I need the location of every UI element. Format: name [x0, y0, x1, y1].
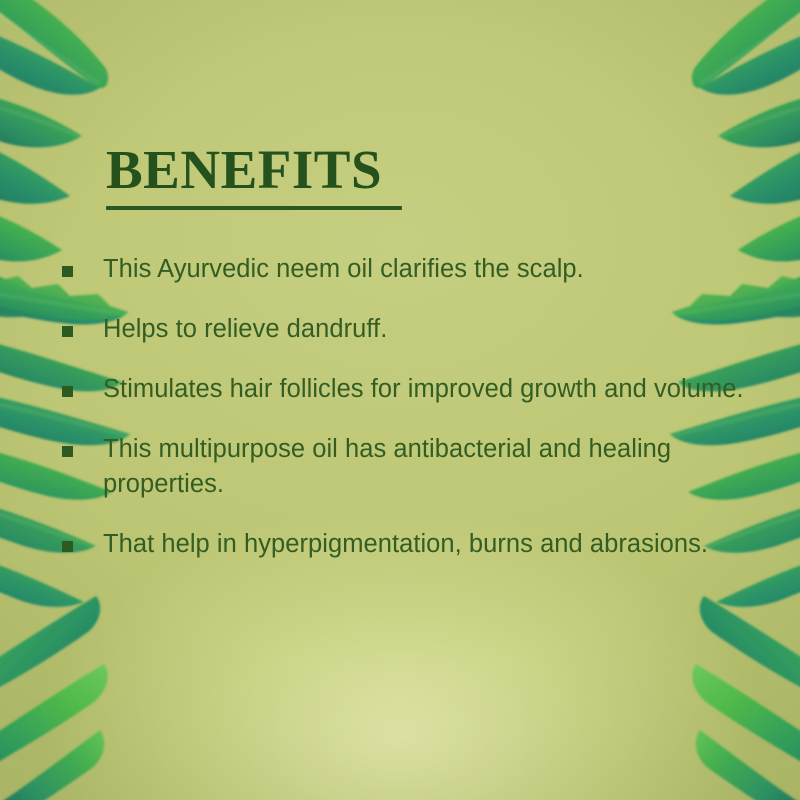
list-item: Stimulates hair follicles for improved g…	[62, 372, 754, 406]
square-bullet-icon	[62, 446, 73, 457]
content-area: BENEFITS This Ayurvedic neem oil clarifi…	[0, 0, 800, 800]
list-item: Helps to relieve dandruff.	[62, 312, 754, 346]
benefit-text: Helps to relieve dandruff.	[103, 312, 754, 346]
benefit-text: This multipurpose oil has antibacterial …	[103, 432, 754, 500]
square-bullet-icon	[62, 266, 73, 277]
square-bullet-icon	[62, 326, 73, 337]
benefits-graphic: BENEFITS This Ayurvedic neem oil clarifi…	[0, 0, 800, 800]
square-bullet-icon	[62, 541, 73, 552]
page-title: BENEFITS	[106, 142, 526, 198]
list-item: This Ayurvedic neem oil clarifies the sc…	[62, 252, 754, 286]
square-bullet-icon	[62, 386, 73, 397]
list-item: That help in hyperpigmentation, burns an…	[62, 527, 754, 561]
benefit-text: This Ayurvedic neem oil clarifies the sc…	[103, 252, 754, 286]
title-block: BENEFITS	[106, 142, 526, 210]
benefit-text: Stimulates hair follicles for improved g…	[103, 372, 754, 406]
title-underline	[106, 206, 402, 210]
benefits-list: This Ayurvedic neem oil clarifies the sc…	[62, 252, 754, 561]
list-item: This multipurpose oil has antibacterial …	[62, 432, 754, 500]
benefit-text: That help in hyperpigmentation, burns an…	[103, 527, 754, 561]
